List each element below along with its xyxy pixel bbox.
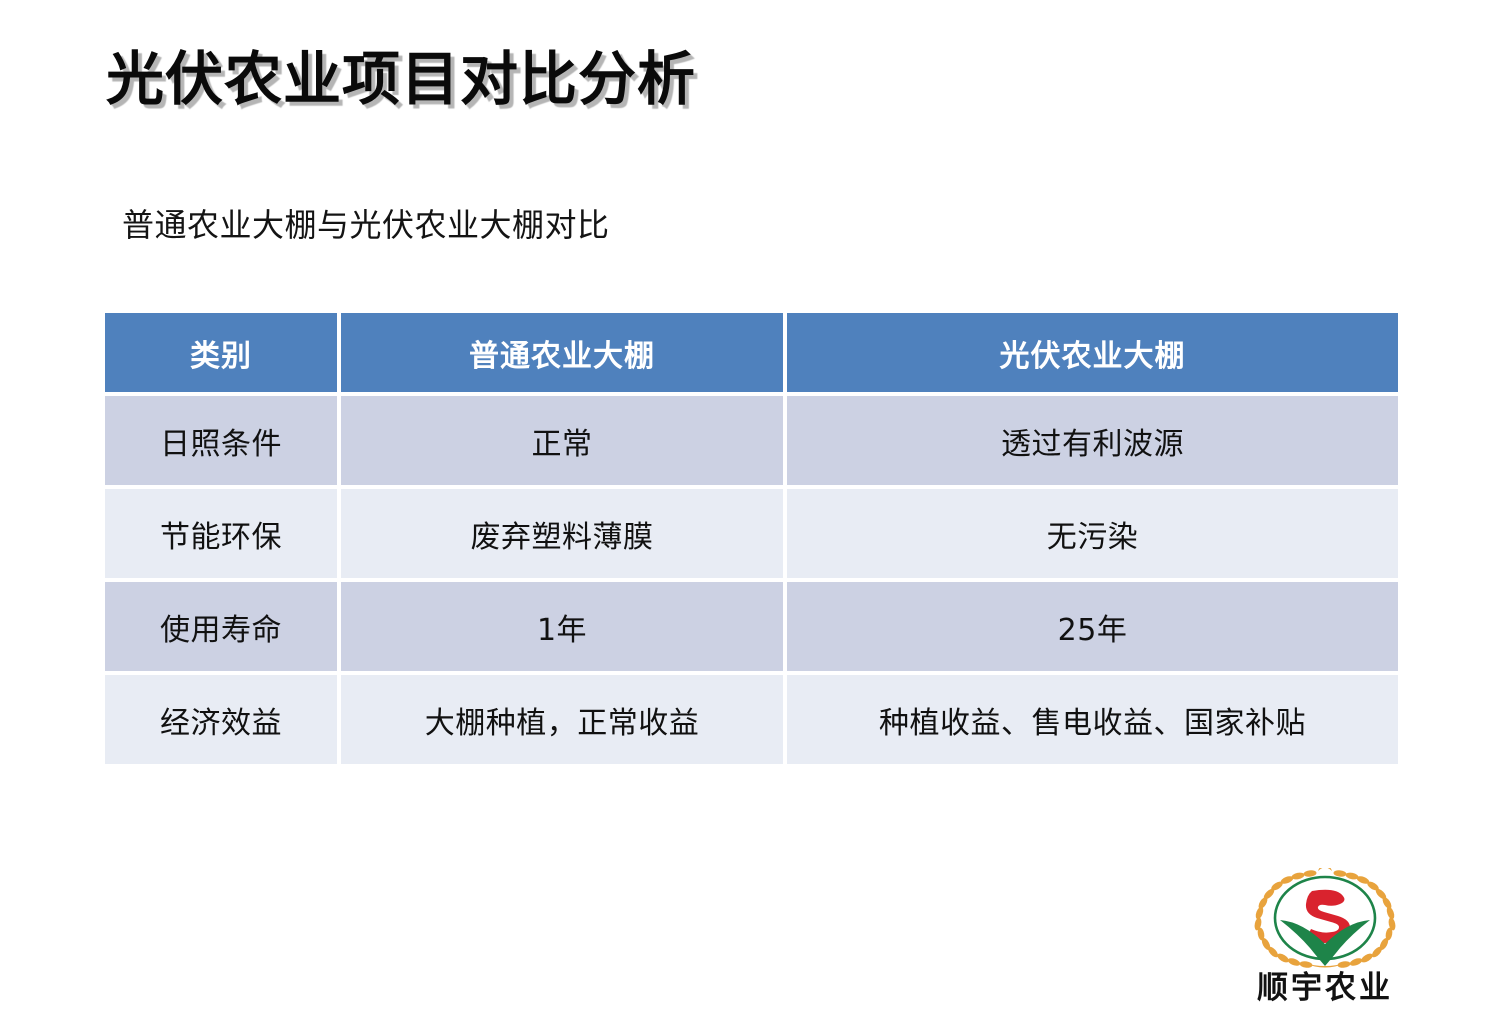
cell-photovoltaic: 无污染 (787, 489, 1398, 582)
table-body: 日照条件 正常 透过有利波源 节能环保 废弃塑料薄膜 无污染 使用寿命 1年 2… (105, 396, 1398, 764)
cell-ordinary: 正常 (341, 396, 787, 489)
slide-canvas: 光伏农业项目对比分析 普通农业大棚与光伏农业大棚对比 类别 普通农业大棚 光伏农… (0, 0, 1500, 1018)
cell-category: 使用寿命 (105, 582, 341, 675)
column-header-category: 类别 (105, 313, 341, 396)
table-row: 经济效益 大棚种植，正常收益 种植收益、售电收益、国家补贴 (105, 675, 1398, 764)
cell-category: 日照条件 (105, 396, 341, 489)
logo-company-name: 顺宇农业 (1242, 962, 1408, 1007)
cell-category: 节能环保 (105, 489, 341, 582)
column-header-photovoltaic: 光伏农业大棚 (787, 313, 1398, 396)
comparison-table: 类别 普通农业大棚 光伏农业大棚 日照条件 正常 透过有利波源 节能环保 废弃塑… (105, 313, 1398, 764)
cell-category: 经济效益 (105, 675, 341, 764)
table-row: 节能环保 废弃塑料薄膜 无污染 (105, 489, 1398, 582)
cell-ordinary: 废弃塑料薄膜 (341, 489, 787, 582)
page-title: 光伏农业项目对比分析 (106, 48, 696, 112)
wheat-wreath-icon (1242, 868, 1408, 968)
company-logo: 顺宇农业 (1242, 868, 1408, 1008)
table-row: 使用寿命 1年 25年 (105, 582, 1398, 675)
cell-photovoltaic: 透过有利波源 (787, 396, 1398, 489)
cell-photovoltaic: 种植收益、售电收益、国家补贴 (787, 675, 1398, 764)
table-header: 类别 普通农业大棚 光伏农业大棚 (105, 313, 1398, 396)
cell-ordinary: 1年 (341, 582, 787, 675)
table-row: 日照条件 正常 透过有利波源 (105, 396, 1398, 489)
column-header-ordinary: 普通农业大棚 (341, 313, 787, 396)
cell-photovoltaic: 25年 (787, 582, 1398, 675)
logo-emblem-icon (1242, 868, 1408, 968)
cell-ordinary: 大棚种植，正常收益 (341, 675, 787, 764)
slide-subtitle: 普通农业大棚与光伏农业大棚对比 (122, 200, 610, 246)
table-header-row: 类别 普通农业大棚 光伏农业大棚 (105, 313, 1398, 396)
